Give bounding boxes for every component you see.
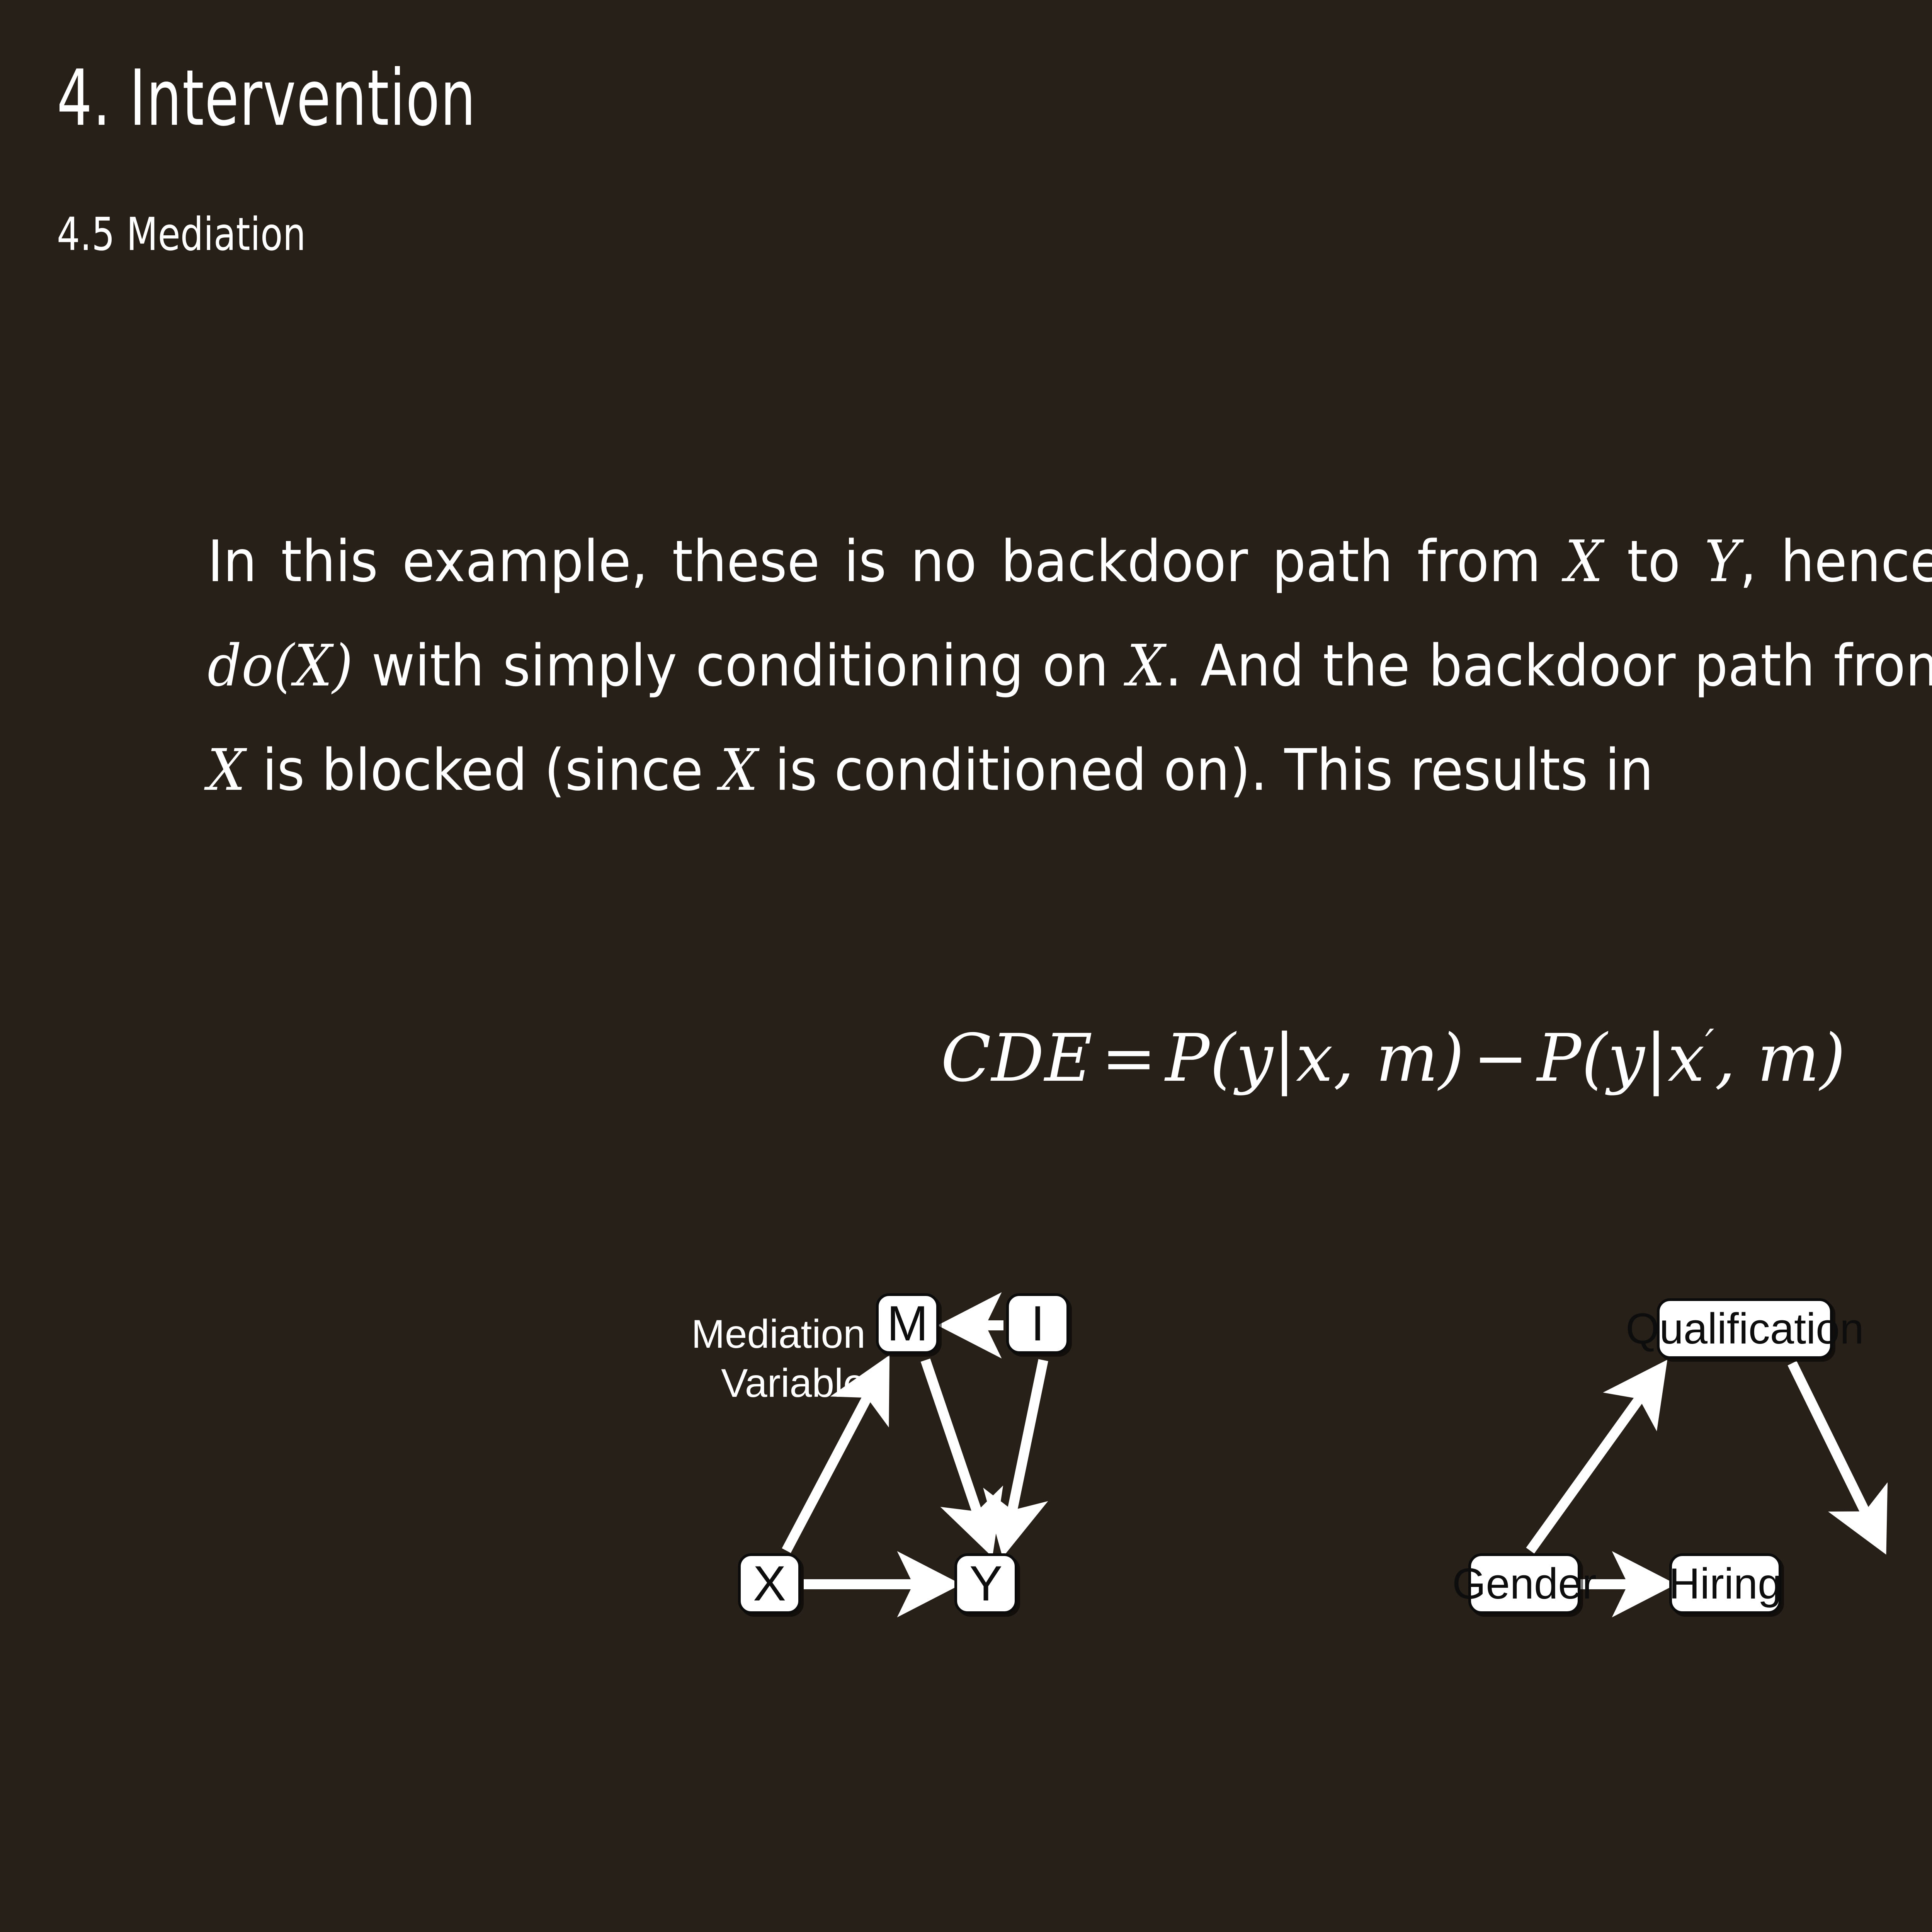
diagram-edges-hiring — [0, 0, 1932, 1932]
diagram-mediation-hiring: Qualification Gender Hiring — [0, 0, 1932, 1932]
slide-canvas: 4. Intervention 4.5 Mediation In this ex… — [0, 0, 1932, 1932]
node-gender[interactable]: Gender — [1468, 1553, 1580, 1614]
node-qualification[interactable]: Qualification — [1657, 1298, 1833, 1359]
node-hiring[interactable]: Hiring — [1669, 1553, 1781, 1614]
